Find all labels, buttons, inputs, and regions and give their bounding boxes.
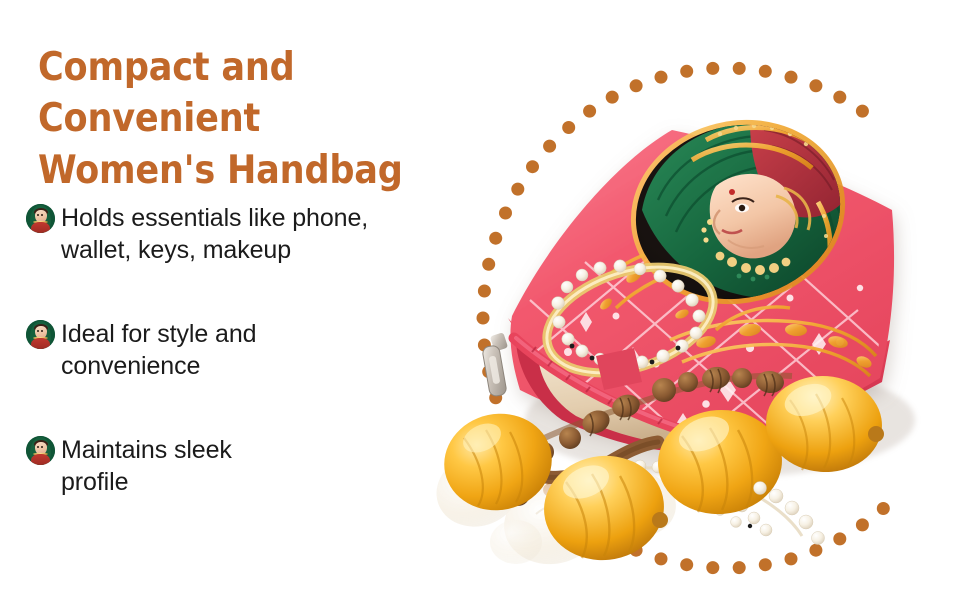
list-item-label: Maintains sleek profile [58, 434, 232, 498]
copy-column: Compact and Convenient Women's Handbag [38, 42, 478, 196]
decor-dot [706, 62, 719, 75]
list-item: Ideal for style and convenience [26, 318, 456, 382]
list-item-label: Ideal for style and convenience [58, 318, 256, 382]
decor-dot [785, 71, 798, 84]
product-banner: Compact and Convenient Women's Handbag H… [0, 0, 970, 600]
feature-list: Holds essentials like phone, wallet, key… [26, 202, 456, 498]
decor-dot [733, 62, 746, 75]
decor-dot [680, 65, 693, 78]
decor-dot [759, 65, 772, 78]
list-item: Holds essentials like phone, wallet, key… [26, 202, 456, 266]
list-item: Maintains sleek profile [26, 434, 456, 498]
page-title: Compact and Convenient Women's Handbag [38, 42, 478, 196]
zipper-pull [482, 332, 508, 397]
womens-handbag-photo [420, 90, 970, 570]
list-item-label: Holds essentials like phone, wallet, key… [58, 202, 368, 266]
rajasthani-woman-medallion-icon [26, 436, 55, 465]
decor-dot [655, 71, 668, 84]
rajasthani-woman-medallion-icon [26, 204, 55, 233]
rajasthani-woman-medallion-icon [26, 320, 55, 349]
